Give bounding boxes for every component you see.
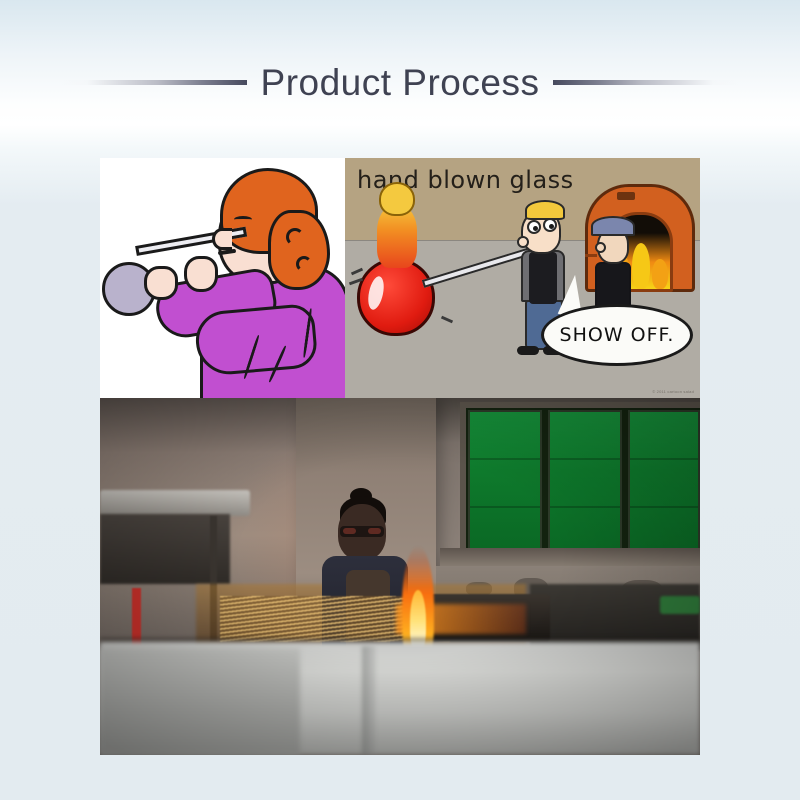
nose-shape [212, 228, 232, 250]
furnace-handle-icon [585, 254, 597, 257]
hand-left-shape [144, 266, 178, 300]
comic-credit-text: © 2011 cartoon salad [652, 389, 694, 394]
page-header: Product Process [0, 0, 800, 158]
onlooker-cap-icon [591, 216, 635, 236]
page-title: Product Process [261, 64, 540, 101]
hair-back-shape [268, 210, 330, 290]
panel-cartoon-glassblower[interactable] [100, 158, 345, 398]
title-row: Product Process [0, 56, 800, 108]
hair-curl-icon [286, 228, 304, 246]
hair-curl-icon [296, 256, 312, 272]
speech-bubble-text: SHOW OFF. [560, 324, 675, 346]
speech-bubble: SHOW OFF. [541, 304, 693, 366]
blower-vest-shape [529, 252, 557, 304]
blower-eye-icon [543, 218, 557, 232]
eye-shape [234, 216, 252, 223]
blower-shoe-icon [517, 346, 539, 355]
decorative-rule-left-icon [61, 80, 247, 85]
molten-glass-head-shape [379, 182, 415, 216]
decorative-rule-right-icon [553, 80, 739, 85]
blower-nose-icon [517, 236, 529, 248]
photo-vignette [100, 398, 700, 755]
panel-workshop-photo[interactable] [100, 398, 700, 755]
onlooker-nose-icon [595, 242, 606, 253]
blower-eye-icon [527, 220, 541, 234]
product-process-gallery: hand blown glass [100, 158, 700, 755]
hand-right-shape [184, 256, 218, 292]
blower-hair-shape [525, 200, 565, 220]
gallery-top-row: hand blown glass [100, 158, 700, 398]
panel-hand-blown-glass-comic[interactable]: hand blown glass [345, 158, 700, 398]
furnace-vent-icon [617, 192, 635, 200]
